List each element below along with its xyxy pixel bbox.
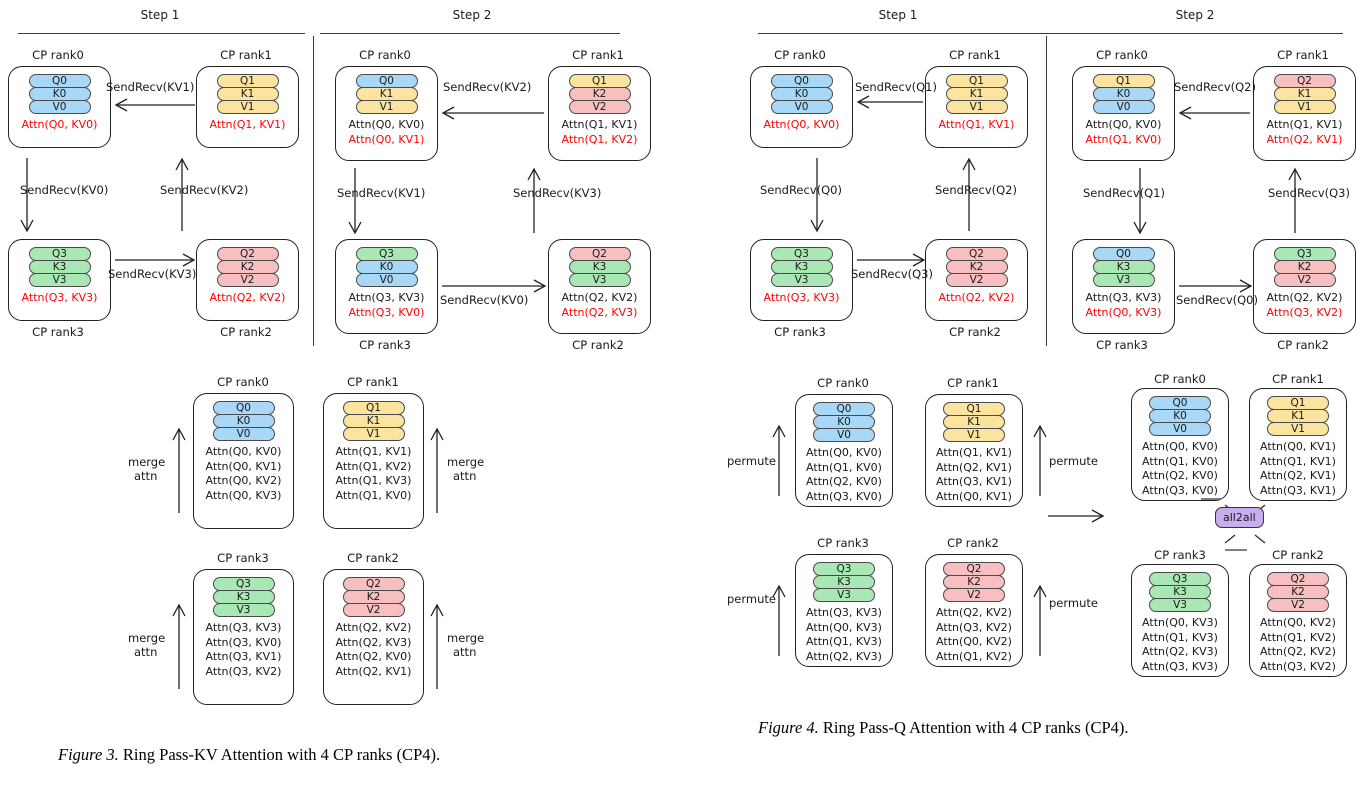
qkv-slot-v1: V1 [1267, 422, 1329, 436]
attn-list: Attn(Q3, KV3)Attn(Q0, KV3) [1073, 291, 1174, 320]
fig4-s1-arrow-bottom [855, 253, 927, 267]
fig3-merge-arrow-left-bottom [172, 604, 186, 690]
attn-entry: Attn(Q0, KV1) [1250, 440, 1346, 455]
fig3-s2-arrow-top [440, 106, 546, 120]
fig4-a2a-rank1-card: Q1K1V1Attn(Q0, KV1)Attn(Q1, KV1)Attn(Q2,… [1249, 388, 1347, 501]
fig4-a2a-rank3-card: Q3K3V3Attn(Q0, KV3)Attn(Q1, KV3)Attn(Q2,… [1131, 564, 1229, 677]
fig4-s2-arrow-left [1133, 168, 1147, 236]
fig3-s2-arrow-top-label: SendRecv(KV2) [443, 80, 531, 94]
qkv-slot-v3: V3 [213, 603, 275, 617]
fig3-s2-arrow-bottom [440, 279, 548, 293]
attn-entry: Attn(Q3, KV2) [926, 621, 1022, 636]
fig3-s2-rank1-card: Q1K2V2Attn(Q1, KV1)Attn(Q1, KV2) [548, 66, 651, 161]
fig4-s2-arrow-left-label: SendRecv(Q1) [1083, 186, 1165, 200]
qkv-slot-q2: Q2 [1267, 572, 1329, 586]
attn-entry: Attn(Q3, KV2) [1250, 660, 1346, 675]
fig3-s2-rank3-title: CP rank3 [359, 338, 411, 352]
qkv-slot-k0: K0 [356, 260, 418, 274]
attn-entry: Attn(Q0, KV3) [1132, 616, 1228, 631]
attn-entry: Attn(Q1, KV1) [1254, 118, 1355, 133]
attn-entry: Attn(Q3, KV3) [1073, 291, 1174, 306]
qkv-slot-q3: Q3 [771, 247, 833, 261]
fig3-merge-rank2-title: CP rank2 [347, 551, 399, 565]
qkv-stack: Q0K1V1 [356, 74, 418, 113]
qkv-stack: Q1K0V0 [1093, 74, 1155, 113]
qkv-stack: Q1K1V1 [1267, 396, 1329, 435]
fig3-merge-label-left-top-l1: merge [128, 455, 165, 469]
qkv-slot-v0: V0 [29, 100, 91, 114]
fig3-s1-rank2-title: CP rank2 [220, 325, 272, 339]
qkv-stack: Q2K2V2 [343, 577, 405, 616]
attn-list: Attn(Q3, KV3) [9, 291, 110, 306]
attn-entry: Attn(Q1, KV1) [549, 118, 650, 133]
qkv-slot-k3: K3 [213, 590, 275, 604]
fig4-step1-title: Step 1 [879, 8, 918, 22]
fig3-s2-rank1-title: CP rank1 [572, 48, 624, 62]
qkv-slot-v3: V3 [1093, 273, 1155, 287]
fig3-merge-label-right-bottom-l2: attn [453, 645, 476, 659]
attn-entry: Attn(Q1, KV3) [796, 635, 892, 650]
attn-entry: Attn(Q3, KV0) [194, 636, 293, 651]
qkv-stack: Q0K3V3 [1093, 247, 1155, 286]
fig4-s1-rank2-card: Q2K2V2Attn(Q2, KV2) [925, 239, 1028, 321]
fig4-perm-label-left-top: permute [727, 454, 776, 468]
fig3-s1-rank1-title: CP rank1 [220, 48, 272, 62]
qkv-slot-k2: K2 [569, 87, 631, 101]
fig3-step-divider [313, 36, 314, 346]
attn-list: Attn(Q1, KV1) [926, 118, 1027, 133]
fig4-a2a-rank0-card: Q0K0V0Attn(Q0, KV0)Attn(Q1, KV0)Attn(Q2,… [1131, 388, 1229, 501]
qkv-slot-q2: Q2 [946, 247, 1008, 261]
qkv-stack: Q0K0V0 [213, 401, 275, 440]
attn-list: Attn(Q0, KV0)Attn(Q1, KV0) [1073, 118, 1174, 147]
attn-list: Attn(Q2, KV2)Attn(Q3, KV2) [1254, 291, 1355, 320]
attn-entry: Attn(Q1, KV0) [1132, 455, 1228, 470]
attn-entry: Attn(Q1, KV0) [324, 489, 423, 504]
attn-entry: Attn(Q1, KV2) [324, 460, 423, 475]
attn-list: Attn(Q0, KV0)Attn(Q1, KV0)Attn(Q2, KV0)A… [796, 446, 892, 504]
fig3-merge-rank1-title: CP rank1 [347, 375, 399, 389]
attn-entry: Attn(Q1, KV2) [926, 650, 1022, 665]
attn-entry: Attn(Q2, KV2) [549, 291, 650, 306]
attn-list: Attn(Q0, KV0) [9, 118, 110, 133]
attn-list: Attn(Q0, KV3)Attn(Q1, KV3)Attn(Q2, KV3)A… [1132, 616, 1228, 674]
qkv-slot-q0: Q0 [771, 74, 833, 88]
qkv-slot-k3: K3 [771, 260, 833, 274]
qkv-stack: Q2K2V2 [946, 247, 1008, 286]
qkv-slot-v2: V2 [217, 273, 279, 287]
figure4-caption-text: Ring Pass-Q Attention with 4 CP ranks (C… [819, 718, 1129, 737]
qkv-slot-k3: K3 [569, 260, 631, 274]
fig4-perm-rank0-card: Q0K0V0Attn(Q0, KV0)Attn(Q1, KV0)Attn(Q2,… [795, 394, 893, 507]
attn-list: Attn(Q2, KV2)Attn(Q3, KV2)Attn(Q0, KV2)A… [926, 606, 1022, 664]
qkv-slot-v0: V0 [1093, 100, 1155, 114]
qkv-slot-k0: K0 [1093, 87, 1155, 101]
figure4-caption: Figure 4. Ring Pass-Q Attention with 4 C… [758, 718, 1129, 738]
fig4-s1-rank3-card: Q3K3V3Attn(Q3, KV3) [750, 239, 853, 321]
attn-entry: Attn(Q2, KV1) [1250, 469, 1346, 484]
fig3-merge-label-left-bottom-l2: attn [134, 645, 157, 659]
fig3-s2-arrow-right-label: SendRecv(KV3) [513, 186, 601, 200]
qkv-stack: Q1K1V1 [343, 401, 405, 440]
fig4-s2-rank1-title: CP rank1 [1277, 48, 1329, 62]
qkv-stack: Q1K1V1 [217, 74, 279, 113]
attn-entry: Attn(Q0, KV0) [194, 445, 293, 460]
qkv-slot-k1: K1 [1267, 409, 1329, 423]
qkv-slot-k0: K0 [29, 87, 91, 101]
attn-entry: Attn(Q1, KV1) [324, 445, 423, 460]
fig4-s1-rank0-card: Q0K0V0Attn(Q0, KV0) [750, 66, 853, 148]
qkv-slot-v1: V1 [1274, 100, 1336, 114]
attn-entry: Attn(Q2, KV3) [324, 636, 423, 651]
fig4-a2a-rank1-title: CP rank1 [1272, 372, 1324, 386]
fig4-s1-arrow-top [855, 95, 925, 109]
attn-entry: Attn(Q3, KV3) [194, 621, 293, 636]
attn-entry: Attn(Q0, KV0) [1132, 440, 1228, 455]
qkv-slot-k1: K1 [946, 87, 1008, 101]
attn-list: Attn(Q0, KV0)Attn(Q0, KV1)Attn(Q0, KV2)A… [194, 445, 293, 503]
qkv-stack: Q3K0V0 [356, 247, 418, 286]
fig3-s1-rank0-card: Q0K0V0Attn(Q0, KV0) [8, 66, 111, 148]
qkv-slot-k1: K1 [1274, 87, 1336, 101]
qkv-slot-v0: V0 [1149, 422, 1211, 436]
figure3-caption-text: Ring Pass-KV Attention with 4 CP ranks (… [119, 745, 440, 764]
attn-list: Attn(Q1, KV1)Attn(Q1, KV2)Attn(Q1, KV3)A… [324, 445, 423, 503]
qkv-slot-v1: V1 [217, 100, 279, 114]
fig4-transition-arrow [1046, 509, 1106, 523]
attn-list: Attn(Q0, KV1)Attn(Q1, KV1)Attn(Q2, KV1)A… [1250, 440, 1346, 498]
fig3-merge-arrow-right-top [430, 428, 444, 514]
attn-list: Attn(Q3, KV3)Attn(Q3, KV0) [336, 291, 437, 320]
attn-entry-highlight: Attn(Q1, KV1) [926, 118, 1027, 133]
fig3-s2-rank3-card: Q3K0V0Attn(Q3, KV3)Attn(Q3, KV0) [335, 239, 438, 334]
attn-entry: Attn(Q1, KV1) [1250, 455, 1346, 470]
qkv-slot-k3: K3 [1149, 585, 1211, 599]
attn-entry: Attn(Q3, KV3) [336, 291, 437, 306]
attn-entry-highlight: Attn(Q0, KV0) [751, 118, 852, 133]
fig4-perm-label-right-top: permute [1049, 454, 1098, 468]
attn-entry: Attn(Q2, KV2) [324, 621, 423, 636]
attn-list: Attn(Q2, KV2) [926, 291, 1027, 306]
qkv-slot-v1: V1 [946, 100, 1008, 114]
qkv-slot-v2: V2 [1274, 273, 1336, 287]
attn-list: Attn(Q0, KV2)Attn(Q1, KV2)Attn(Q2, KV2)A… [1250, 616, 1346, 674]
fig3-s1-rank0-title: CP rank0 [32, 48, 84, 62]
attn-entry-highlight: Attn(Q2, KV3) [549, 306, 650, 321]
attn-list: Attn(Q0, KV0)Attn(Q1, KV0)Attn(Q2, KV0)A… [1132, 440, 1228, 498]
qkv-slot-v1: V1 [356, 100, 418, 114]
fig4-s2-rank2-card: Q3K2V2Attn(Q2, KV2)Attn(Q3, KV2) [1253, 239, 1356, 334]
fig3-s2-arrow-bottom-label: SendRecv(KV0) [440, 293, 528, 307]
qkv-slot-q1: Q1 [1267, 396, 1329, 410]
fig4-s1-rank0-title: CP rank0 [774, 48, 826, 62]
qkv-stack: Q2K2V2 [1267, 572, 1329, 611]
fig4-s1-arrow-left-label: SendRecv(Q0) [760, 183, 842, 197]
qkv-slot-q3: Q3 [213, 577, 275, 591]
fig3-s2-rank0-title: CP rank0 [359, 48, 411, 62]
fig3-merge-label-right-bottom-l1: merge [447, 631, 484, 645]
attn-entry: Attn(Q0, KV0) [796, 446, 892, 461]
figure3-caption: Figure 3. Ring Pass-KV Attention with 4 … [58, 745, 440, 765]
fig4-s2-arrow-top-label: SendRecv(Q2) [1174, 80, 1256, 94]
fig4-s2-rank0-title: CP rank0 [1096, 48, 1148, 62]
attn-entry: Attn(Q3, KV1) [926, 475, 1022, 490]
fig4-perm-rank1-card: Q1K1V1Attn(Q1, KV1)Attn(Q2, KV1)Attn(Q3,… [925, 394, 1023, 507]
fig3-s1-arrow-top [113, 98, 197, 112]
qkv-slot-k2: K2 [217, 260, 279, 274]
attn-entry: Attn(Q2, KV0) [324, 650, 423, 665]
qkv-slot-k2: K2 [943, 575, 1005, 589]
attn-entry: Attn(Q0, KV2) [194, 474, 293, 489]
attn-entry-highlight: Attn(Q1, KV0) [1073, 133, 1174, 148]
qkv-stack: Q1K1V1 [943, 402, 1005, 441]
qkv-stack: Q2K2V2 [217, 247, 279, 286]
fig3-s2-arrow-right [527, 168, 541, 236]
attn-entry: Attn(Q0, KV3) [194, 489, 293, 504]
attn-entry: Attn(Q0, KV3) [796, 621, 892, 636]
fig3-s2-rank0-card: Q0K1V1Attn(Q0, KV0)Attn(Q0, KV1) [335, 66, 438, 161]
qkv-slot-q1: Q1 [1093, 74, 1155, 88]
qkv-slot-q0: Q0 [813, 402, 875, 416]
attn-entry: Attn(Q2, KV1) [324, 665, 423, 680]
attn-entry-highlight: Attn(Q2, KV2) [926, 291, 1027, 306]
fig3-step1-title: Step 1 [141, 8, 180, 22]
qkv-slot-v3: V3 [1149, 598, 1211, 612]
attn-entry-highlight: Attn(Q1, KV1) [197, 118, 298, 133]
qkv-stack: Q0K0V0 [771, 74, 833, 113]
fig4-s1-rank3-title: CP rank3 [774, 325, 826, 339]
qkv-slot-v2: V2 [946, 273, 1008, 287]
qkv-slot-q0: Q0 [356, 74, 418, 88]
attn-entry-highlight: Attn(Q1, KV2) [549, 133, 650, 148]
qkv-slot-q1: Q1 [946, 74, 1008, 88]
fig3-merge-label-left-bottom-l1: merge [128, 631, 165, 645]
qkv-slot-q0: Q0 [29, 74, 91, 88]
attn-list: Attn(Q3, KV3)Attn(Q3, KV0)Attn(Q3, KV1)A… [194, 621, 293, 679]
qkv-slot-k0: K0 [213, 414, 275, 428]
qkv-slot-q3: Q3 [813, 562, 875, 576]
attn-entry: Attn(Q2, KV2) [1250, 645, 1346, 660]
qkv-slot-v3: V3 [569, 273, 631, 287]
attn-list: Attn(Q0, KV0) [751, 118, 852, 133]
attn-entry: Attn(Q3, KV1) [194, 650, 293, 665]
attn-list: Attn(Q3, KV3) [751, 291, 852, 306]
fig3-merge-label-left-top-l2: attn [134, 469, 157, 483]
qkv-slot-q2: Q2 [1274, 74, 1336, 88]
fig4-perm-rank2-title: CP rank2 [947, 536, 999, 550]
fig4-perm-arrow-right-bottom [1033, 585, 1047, 657]
qkv-slot-v3: V3 [771, 273, 833, 287]
fig3-merge-rank3-card: Q3K3V3Attn(Q3, KV3)Attn(Q3, KV0)Attn(Q3,… [193, 569, 294, 705]
qkv-slot-k1: K1 [356, 87, 418, 101]
figure3-caption-prefix: Figure 3. [58, 745, 119, 764]
fig4-step2-rule [1043, 33, 1343, 34]
fig4-a2a-rank2-card: Q2K2V2Attn(Q0, KV2)Attn(Q1, KV2)Attn(Q2,… [1249, 564, 1347, 677]
attn-entry: Attn(Q1, KV3) [324, 474, 423, 489]
qkv-slot-q1: Q1 [943, 402, 1005, 416]
qkv-slot-k2: K2 [1267, 585, 1329, 599]
fig4-perm-arrow-right-top [1033, 425, 1047, 497]
fig4-perm-label-left-bottom: permute [727, 592, 776, 606]
attn-entry-highlight: Attn(Q3, KV2) [1254, 306, 1355, 321]
fig3-s1-rank3-card: Q3K3V3Attn(Q3, KV3) [8, 239, 111, 321]
attn-entry: Attn(Q3, KV3) [1132, 660, 1228, 675]
attn-entry-highlight: Attn(Q0, KV3) [1073, 306, 1174, 321]
qkv-stack: Q3K2V2 [1274, 247, 1336, 286]
qkv-slot-q2: Q2 [217, 247, 279, 261]
qkv-stack: Q3K3V3 [771, 247, 833, 286]
fig3-s2-arrow-left-label: SendRecv(KV1) [337, 186, 425, 200]
fig3-merge-rank3-title: CP rank3 [217, 551, 269, 565]
fig4-a2a-rank0-title: CP rank0 [1154, 372, 1206, 386]
fig4-s2-arrow-right [1288, 168, 1302, 236]
fig3-merge-arrow-left-top [172, 428, 186, 514]
fig3-s1-rank1-card: Q1K1V1Attn(Q1, KV1) [196, 66, 299, 148]
qkv-stack: Q1K1V1 [946, 74, 1008, 113]
qkv-slot-k3: K3 [29, 260, 91, 274]
qkv-stack: Q2K2V2 [943, 562, 1005, 601]
attn-entry-highlight: Attn(Q3, KV3) [751, 291, 852, 306]
fig4-s2-rank2-title: CP rank2 [1277, 338, 1329, 352]
fig3-s1-arrow-left-label: SendRecv(KV0) [20, 183, 108, 197]
attn-entry-highlight: Attn(Q2, KV1) [1254, 133, 1355, 148]
attn-entry: Attn(Q0, KV0) [1073, 118, 1174, 133]
fig4-perm-rank3-title: CP rank3 [817, 536, 869, 550]
attn-list: Attn(Q1, KV1) [197, 118, 298, 133]
qkv-slot-q0: Q0 [213, 401, 275, 415]
fig3-merge-label-right-top-l2: attn [453, 469, 476, 483]
attn-entry: Attn(Q1, KV3) [1132, 631, 1228, 646]
qkv-slot-k2: K2 [1274, 260, 1336, 274]
qkv-slot-k1: K1 [217, 87, 279, 101]
attn-list: Attn(Q1, KV1)Attn(Q1, KV2) [549, 118, 650, 147]
fig3-merge-arrow-right-bottom [430, 604, 444, 690]
attn-entry: Attn(Q0, KV0) [336, 118, 437, 133]
qkv-slot-v2: V2 [1267, 598, 1329, 612]
qkv-slot-k2: K2 [343, 590, 405, 604]
fig4-perm-rank1-title: CP rank1 [947, 376, 999, 390]
fig4-s1-arrow-right-label: SendRecv(Q2) [935, 183, 1017, 197]
fig3-step2-rule [320, 33, 620, 34]
attn-entry-highlight: Attn(Q3, KV3) [9, 291, 110, 306]
fig4-s2-arrow-bottom-label: SendRecv(Q0) [1176, 293, 1258, 307]
qkv-stack: Q3K3V3 [1149, 572, 1211, 611]
qkv-slot-v1: V1 [343, 427, 405, 441]
qkv-slot-v1: V1 [943, 428, 1005, 442]
fig3-step1-rule [18, 33, 305, 34]
attn-entry: Attn(Q2, KV2) [926, 606, 1022, 621]
qkv-slot-v2: V2 [943, 588, 1005, 602]
qkv-slot-q3: Q3 [29, 247, 91, 261]
attn-list: Attn(Q2, KV2)Attn(Q2, KV3)Attn(Q2, KV0)A… [324, 621, 423, 679]
attn-entry: Attn(Q0, KV1) [926, 490, 1022, 505]
attn-list: Attn(Q2, KV2)Attn(Q2, KV3) [549, 291, 650, 320]
fig3-step2-title: Step 2 [453, 8, 492, 22]
qkv-stack: Q3K3V3 [29, 247, 91, 286]
fig4-step1-rule [758, 33, 1043, 34]
qkv-slot-v3: V3 [813, 588, 875, 602]
attn-entry: Attn(Q1, KV2) [1250, 631, 1346, 646]
qkv-slot-q1: Q1 [343, 401, 405, 415]
fig4-s2-arrow-top [1177, 106, 1252, 120]
fig4-s1-rank1-card: Q1K1V1Attn(Q1, KV1) [925, 66, 1028, 148]
fig4-step-divider [1046, 36, 1047, 346]
qkv-stack: Q3K3V3 [213, 577, 275, 616]
fig4-s1-rank2-title: CP rank2 [949, 325, 1001, 339]
attn-entry: Attn(Q2, KV0) [796, 475, 892, 490]
fig3-s2-rank2-card: Q2K3V3Attn(Q2, KV2)Attn(Q2, KV3) [548, 239, 651, 334]
qkv-stack: Q2K3V3 [569, 247, 631, 286]
qkv-slot-k2: K2 [946, 260, 1008, 274]
fig3-s1-rank3-title: CP rank3 [32, 325, 84, 339]
fig4-s2-rank3-title: CP rank3 [1096, 338, 1148, 352]
qkv-slot-k1: K1 [343, 414, 405, 428]
fig3-s1-arrow-bottom [113, 253, 197, 267]
all2all-node[interactable]: all2all [1215, 507, 1264, 528]
attn-entry: Attn(Q1, KV1) [926, 446, 1022, 461]
fig3-s1-arrow-right-label: SendRecv(KV2) [160, 183, 248, 197]
qkv-slot-q3: Q3 [1274, 247, 1336, 261]
qkv-slot-k0: K0 [771, 87, 833, 101]
qkv-slot-q0: Q0 [1149, 396, 1211, 410]
qkv-slot-v0: V0 [813, 428, 875, 442]
attn-entry: Attn(Q1, KV0) [796, 461, 892, 476]
attn-list: Attn(Q0, KV0)Attn(Q0, KV1) [336, 118, 437, 147]
figure4-caption-prefix: Figure 4. [758, 718, 819, 737]
qkv-stack: Q2K1V1 [1274, 74, 1336, 113]
qkv-slot-k1: K1 [943, 415, 1005, 429]
qkv-slot-v3: V3 [29, 273, 91, 287]
qkv-stack: Q0K0V0 [813, 402, 875, 441]
qkv-slot-k0: K0 [813, 415, 875, 429]
attn-entry-highlight: Attn(Q3, KV0) [336, 306, 437, 321]
fig4-s2-rank3-card: Q0K3V3Attn(Q3, KV3)Attn(Q0, KV3) [1072, 239, 1175, 334]
qkv-slot-q1: Q1 [569, 74, 631, 88]
attn-entry-highlight: Attn(Q0, KV0) [9, 118, 110, 133]
attn-list: Attn(Q3, KV3)Attn(Q0, KV3)Attn(Q1, KV3)A… [796, 606, 892, 664]
fig3-s2-rank2-title: CP rank2 [572, 338, 624, 352]
fig3-s1-arrow-bottom-label: SendRecv(KV3) [108, 267, 196, 281]
fig3-merge-rank2-card: Q2K2V2Attn(Q2, KV2)Attn(Q2, KV3)Attn(Q2,… [323, 569, 424, 705]
fig3-s2-arrow-left [348, 168, 362, 236]
qkv-slot-q3: Q3 [356, 247, 418, 261]
fig4-perm-label-right-bottom: permute [1049, 596, 1098, 610]
attn-entry: Attn(Q0, KV2) [1250, 616, 1346, 631]
attn-entry: Attn(Q3, KV0) [796, 490, 892, 505]
fig3-merge-label-right-top-l1: merge [447, 455, 484, 469]
attn-entry: Attn(Q2, KV2) [1254, 291, 1355, 306]
qkv-slot-q2: Q2 [569, 247, 631, 261]
qkv-stack: Q1K2V2 [569, 74, 631, 113]
qkv-slot-v0: V0 [356, 273, 418, 287]
qkv-stack: Q0K0V0 [29, 74, 91, 113]
fig4-s2-arrow-right-label: SendRecv(Q3) [1268, 186, 1350, 200]
fig4-perm-rank2-card: Q2K2V2Attn(Q2, KV2)Attn(Q3, KV2)Attn(Q0,… [925, 554, 1023, 667]
attn-entry: Attn(Q3, KV3) [796, 606, 892, 621]
fig4-s2-rank0-card: Q1K0V0Attn(Q0, KV0)Attn(Q1, KV0) [1072, 66, 1175, 161]
attn-entry: Attn(Q2, KV1) [926, 461, 1022, 476]
attn-list: Attn(Q1, KV1)Attn(Q2, KV1)Attn(Q3, KV1)A… [926, 446, 1022, 504]
qkv-slot-v2: V2 [343, 603, 405, 617]
fig4-s2-arrow-bottom [1177, 279, 1254, 293]
fig3-merge-rank1-card: Q1K1V1Attn(Q1, KV1)Attn(Q1, KV2)Attn(Q1,… [323, 393, 424, 529]
qkv-stack: Q0K0V0 [1149, 396, 1211, 435]
fig4-perm-rank0-title: CP rank0 [817, 376, 869, 390]
qkv-slot-k0: K0 [1149, 409, 1211, 423]
fig4-perm-rank3-card: Q3K3V3Attn(Q3, KV3)Attn(Q0, KV3)Attn(Q1,… [795, 554, 893, 667]
fig3-merge-rank0-card: Q0K0V0Attn(Q0, KV0)Attn(Q0, KV1)Attn(Q0,… [193, 393, 294, 529]
qkv-slot-v0: V0 [213, 427, 275, 441]
